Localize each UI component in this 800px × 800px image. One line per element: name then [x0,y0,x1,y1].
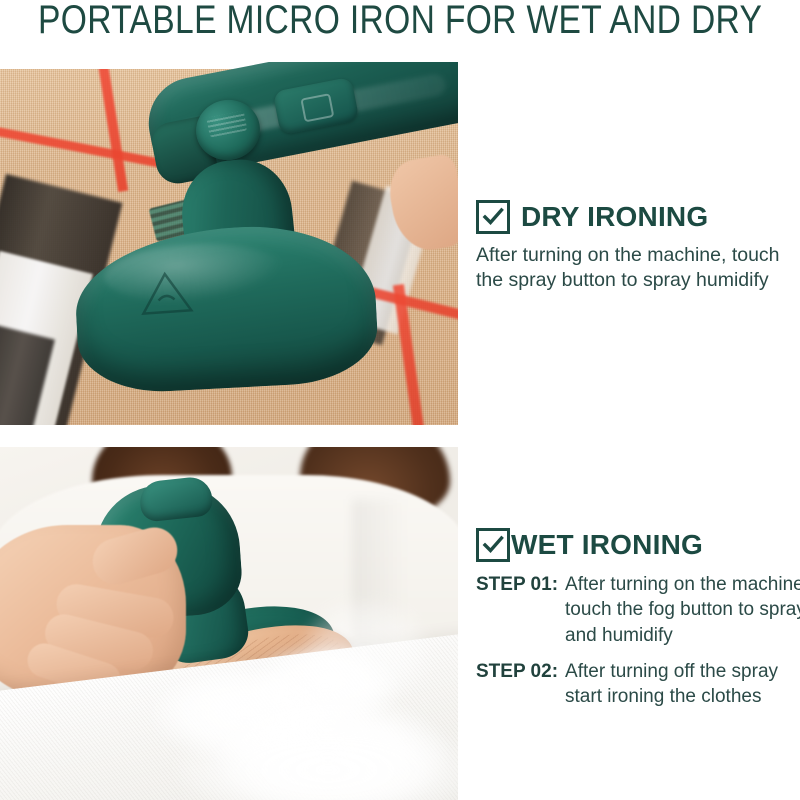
checkbox-checked-icon [476,528,510,562]
step-01-line-1: After turning on the machine, [565,574,800,595]
steam-ironing-scene [0,447,458,800]
wet-ironing-photo [0,447,458,800]
step-01-text: After turning on the machine, touch the … [565,572,800,648]
step-item: STEP 01: After turning on the machine, t… [476,572,800,648]
dry-ironing-photo [0,62,458,425]
wet-ironing-label: WET IRONING [511,531,703,559]
page-title: PORTABLE MICRO IRON FOR WET AND DRY [38,0,762,43]
infographic-page: PORTABLE MICRO IRON FOR WET AND DRY [0,0,800,800]
dry-ironing-body: After turning on the machine, touch the … [476,243,800,294]
step-01-line-2: touch the fog button to spray [565,599,800,620]
wet-ironing-heading: WET IRONING [476,528,800,562]
step-item: STEP 02: After turning off the spray sta… [476,659,800,710]
checkbox-checked-icon [476,200,510,234]
dry-body-line-1: After turning on the machine, touch [476,244,780,266]
wet-ironing-section: WET IRONING STEP 01: After turning on th… [476,528,800,720]
page-title-bar: PORTABLE MICRO IRON FOR WET AND DRY [0,0,800,46]
micro-iron-product [0,62,458,425]
wet-ironing-steps: STEP 01: After turning on the machine, t… [476,572,800,709]
step-02-line-1: After turning off the spray [565,661,778,682]
dry-ironing-label: DRY IRONING [521,203,708,231]
dry-ironing-heading: DRY IRONING [476,200,800,234]
dry-body-line-2: the spray button to spray humidify [476,269,769,291]
step-02-line-2: start ironing the clothes [565,686,761,707]
step-02-label: STEP 02: [476,659,558,710]
plaid-blanket-scene [0,62,458,425]
step-01-line-3: and humidify [565,625,673,646]
hand [385,153,458,256]
step-01-label: STEP 01: [476,572,558,648]
step-02-text: After turning off the spray start ironin… [565,659,800,710]
warning-triangle-icon [136,266,195,318]
dry-ironing-section: DRY IRONING After turning on the machine… [476,200,800,294]
